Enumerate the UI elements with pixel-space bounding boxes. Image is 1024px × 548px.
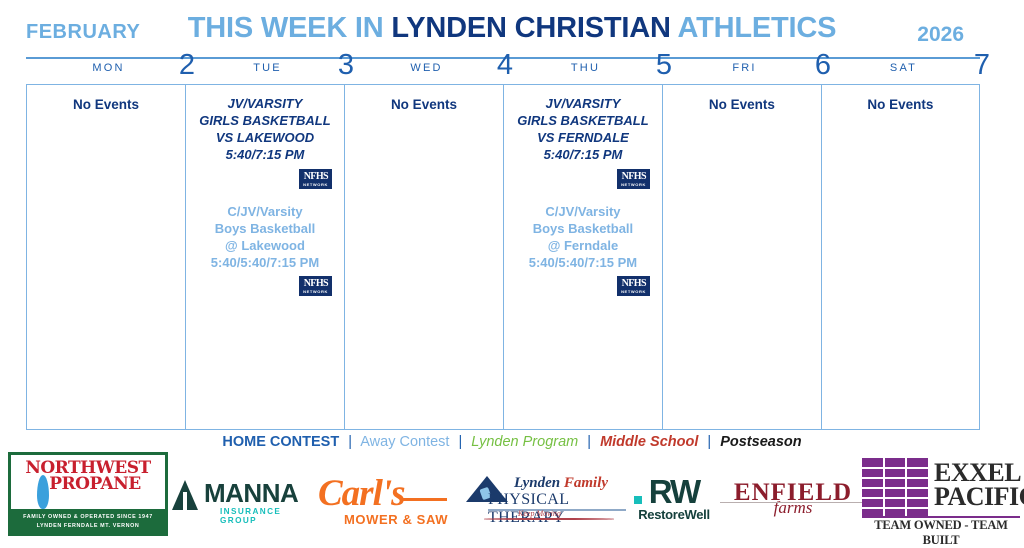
day-name-label: TUE xyxy=(185,62,344,74)
legend: HOME CONTEST | Away Contest | Lynden Pro… xyxy=(0,434,1024,450)
day-header-thu: THU5 xyxy=(503,60,662,82)
nfhs-network-icon[interactable]: NFHSNETWORK xyxy=(299,276,332,296)
event-line: 5:40/7:15 PM xyxy=(510,146,656,163)
day-header-fri: FRI6 xyxy=(662,60,821,82)
nfhs-badge-line1: NFHS xyxy=(303,279,328,289)
sponsor-logo-lynden-family-physical-therapy: Lynden Family PHYSICAL THERAPY Keep Movi… xyxy=(466,474,628,522)
title-part-dark: LYNDEN CHRISTIAN xyxy=(391,12,670,44)
day-header-wed: WED4 xyxy=(344,60,503,82)
carls-underline-icon xyxy=(403,498,447,501)
no-events-label: No Events xyxy=(828,97,973,112)
legend-home-contest: HOME CONTEST xyxy=(222,434,339,450)
calendar-day-cell[interactable]: No Events xyxy=(344,84,503,430)
event-line: @ Ferndale xyxy=(510,237,656,254)
sponsor-logo-northwest-propane: NORTHWEST PROPANE FAMILY OWNED & OPERATE… xyxy=(8,452,168,536)
manna-mark-slot-icon xyxy=(183,492,187,510)
event-line: C/JV/Varsity xyxy=(510,203,656,220)
nfhs-badge-line1: NFHS xyxy=(303,172,328,182)
event-line: VS FERNDALE xyxy=(510,129,656,146)
event-line: JV/VARSITY xyxy=(192,95,338,112)
legend-postseason: Postseason xyxy=(720,434,801,450)
no-events-label: No Events xyxy=(33,97,179,112)
legend-separator-2: | xyxy=(453,434,467,450)
broadcast-badge-row: NFHSNETWORK xyxy=(510,276,656,298)
day-number-label: 7 xyxy=(974,51,990,80)
event-line: Boys Basketball xyxy=(510,220,656,237)
nfhs-badge-line2: NETWORK xyxy=(303,289,328,294)
event-line: VS LAKEWOOD xyxy=(192,129,338,146)
restorewell-name: RestoreWell xyxy=(626,507,722,522)
event-entry-away[interactable]: C/JV/VarsityBoys Basketball@ Ferndale5:4… xyxy=(510,203,656,299)
day-name-label: THU xyxy=(503,62,662,74)
broadcast-badge-row: NFHSNETWORK xyxy=(192,276,338,298)
sponsor-logo-exxel-pacific: EXXEL PACIFIC TEAM OWNED - TEAM BUILT xyxy=(862,458,1020,532)
event-entry-away[interactable]: C/JV/VarsityBoys Basketball@ Lakewood5:4… xyxy=(192,203,338,299)
event-line: GIRLS BASKETBALL xyxy=(192,112,338,129)
day-name-label: MON xyxy=(26,62,185,74)
northwest-propane-cities: LYNDEN FERNDALE MT. VERNON xyxy=(11,522,165,531)
lfpt-swish-icon xyxy=(484,518,614,520)
legend-away-contest: Away Contest xyxy=(360,434,449,450)
manna-name: MANNA xyxy=(204,480,298,506)
enfield-rule xyxy=(720,502,866,503)
northwest-propane-tagline: FAMILY OWNED & OPERATED SINCE 1947 xyxy=(11,513,165,522)
restorewell-dot-icon xyxy=(634,496,642,504)
nfhs-badge-line2: NETWORK xyxy=(303,182,328,187)
event-line: 5:40/7:15 PM xyxy=(192,146,338,163)
manna-subtitle: INSURANCE GROUP xyxy=(220,507,312,525)
broadcast-badge-row: NFHSNETWORK xyxy=(192,169,338,191)
day-header-sat: SAT7 xyxy=(821,60,980,82)
nfhs-network-icon[interactable]: NFHSNETWORK xyxy=(299,169,332,189)
flame-icon xyxy=(37,475,49,509)
nfhs-badge-line2: NETWORK xyxy=(621,289,646,294)
broadcast-badge-row: NFHSNETWORK xyxy=(510,169,656,191)
event-line: 5:40/5:40/7:15 PM xyxy=(192,254,338,271)
event-line: @ Lakewood xyxy=(192,237,338,254)
exxel-tagline: TEAM OWNED - TEAM BUILT xyxy=(862,518,1020,548)
calendar-day-cell[interactable]: No Events xyxy=(26,84,185,430)
day-name-label: WED xyxy=(344,62,503,74)
event-text: C/JV/VarsityBoys Basketball@ Lakewood5:4… xyxy=(192,203,338,272)
nfhs-network-icon[interactable]: NFHSNETWORK xyxy=(617,169,650,189)
sponsor-strip: NORTHWEST PROPANE FAMILY OWNED & OPERATE… xyxy=(0,450,1024,538)
lfpt-line1-family: Family xyxy=(564,475,608,491)
event-line: Boys Basketball xyxy=(192,220,338,237)
calendar-day-cell[interactable]: JV/VARSITYGIRLS BASKETBALLVS FERNDALE5:4… xyxy=(503,84,662,430)
event-line: GIRLS BASKETBALL xyxy=(510,112,656,129)
event-line: 5:40/5:40/7:15 PM xyxy=(510,254,656,271)
event-entry-home[interactable]: JV/VARSITYGIRLS BASKETBALLVS FERNDALE5:4… xyxy=(510,95,656,191)
legend-separator-3: | xyxy=(582,434,596,450)
calendar-day-cell[interactable]: No Events xyxy=(662,84,821,430)
lfpt-line1-lynden: Lynden xyxy=(514,475,564,491)
no-events-label: No Events xyxy=(669,97,815,112)
legend-separator-4: | xyxy=(702,434,716,450)
event-line: C/JV/Varsity xyxy=(192,203,338,220)
page-title: THIS WEEK IN LYNDEN CHRISTIAN ATHLETICS xyxy=(0,12,1024,45)
carls-name: Carl's xyxy=(318,476,458,512)
event-text: JV/VARSITYGIRLS BASKETBALLVS FERNDALE5:4… xyxy=(510,95,656,164)
calendar-day-cell[interactable]: No Events xyxy=(821,84,980,430)
legend-lynden-program: Lynden Program xyxy=(471,434,578,450)
no-events-label: No Events xyxy=(351,97,497,112)
legend-middle-school: Middle School xyxy=(600,434,698,450)
sponsor-logo-manna: MANNA INSURANCE GROUP xyxy=(172,478,312,520)
sponsor-logo-restorewell: RW RestoreWell xyxy=(626,476,722,524)
day-header-tue: TUE3 xyxy=(185,60,344,82)
calendar-grid: No EventsJV/VARSITYGIRLS BASKETBALLVS LA… xyxy=(26,84,980,430)
northwest-propane-footer: FAMILY OWNED & OPERATED SINCE 1947 LYNDE… xyxy=(11,509,165,533)
title-part-light-2: ATHLETICS xyxy=(671,12,837,44)
carls-subtitle: MOWER & SAW xyxy=(344,512,448,527)
day-header-mon: MON2 xyxy=(26,60,185,82)
nfhs-badge-line2: NETWORK xyxy=(621,182,646,187)
day-label-row: MON2TUE3WED4THU5FRI6SAT7 xyxy=(26,60,980,82)
year-label: 2026 xyxy=(917,23,964,47)
sponsor-logo-carls: Carl's MOWER & SAW xyxy=(318,476,458,526)
building-icon xyxy=(862,458,928,516)
day-name-label: SAT xyxy=(821,62,980,74)
title-part-light-1: THIS WEEK IN xyxy=(188,12,392,44)
nfhs-network-icon[interactable]: NFHSNETWORK xyxy=(617,276,650,296)
nfhs-badge-line1: NFHS xyxy=(621,172,646,182)
sponsor-logo-enfield-farms: ENFIELD farms xyxy=(730,480,856,524)
lfpt-tagline: Keep Moving xyxy=(518,509,561,518)
event-text: JV/VARSITYGIRLS BASKETBALLVS LAKEWOOD5:4… xyxy=(192,95,338,164)
calendar-day-cell[interactable]: JV/VARSITYGIRLS BASKETBALLVS LAKEWOOD5:4… xyxy=(185,84,344,430)
event-entry-home[interactable]: JV/VARSITYGIRLS BASKETBALLVS LAKEWOOD5:4… xyxy=(192,95,338,191)
event-line: JV/VARSITY xyxy=(510,95,656,112)
exxel-line2: PACIFIC xyxy=(934,484,1024,509)
day-name-label: FRI xyxy=(662,62,821,74)
legend-separator-1: | xyxy=(343,434,357,450)
event-text: C/JV/VarsityBoys Basketball@ Ferndale5:4… xyxy=(510,203,656,272)
lfpt-line1: Lynden Family xyxy=(514,474,608,492)
nfhs-badge-line1: NFHS xyxy=(621,279,646,289)
